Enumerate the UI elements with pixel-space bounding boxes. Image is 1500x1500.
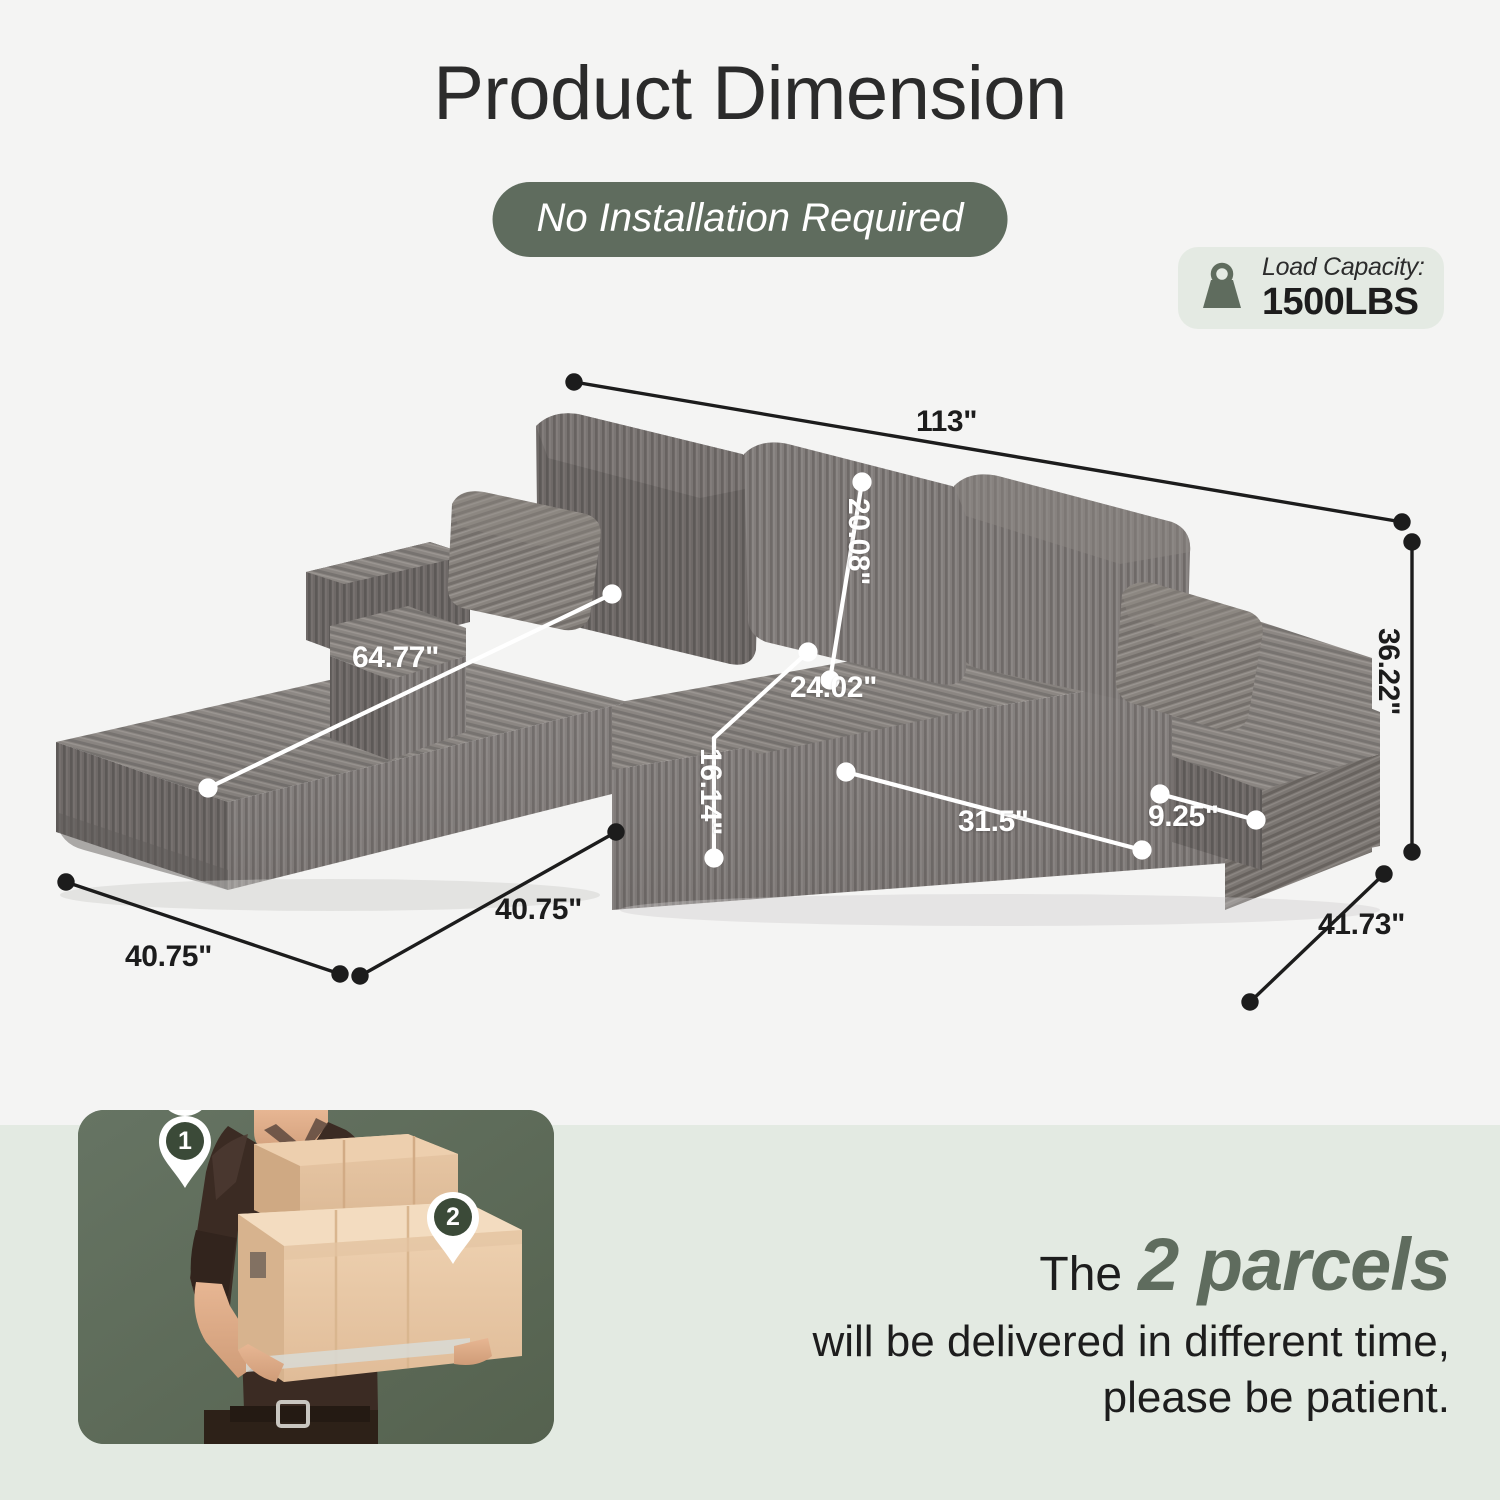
dimension-label-overall-width: 113" (916, 405, 977, 439)
parcel-detail-line-1: will be delivered in different time, (620, 1314, 1450, 1370)
parcel-headline: The2 parcels (620, 1228, 1450, 1302)
parcel-the-word: The (1039, 1248, 1122, 1301)
dimension-label-overall-height: 36.22" (1371, 628, 1405, 715)
load-capacity-label: Load Capacity: (1262, 255, 1425, 280)
svg-text:2: 2 (446, 1203, 460, 1231)
page-title: Product Dimension (0, 52, 1500, 136)
delivery-photo-card: 1 2 (78, 1110, 554, 1444)
dimension-label-backrest-height: 20.08" (841, 498, 875, 585)
dimension-label-seat-width: 31.5" (958, 805, 1029, 839)
parcel-detail-line-2: please be patient. (620, 1370, 1450, 1426)
load-capacity-text: Load Capacity: 1500LBS (1262, 255, 1425, 321)
parcel-count-highlight: 2 parcels (1138, 1223, 1450, 1306)
load-capacity-badge: Load Capacity: 1500LBS (1178, 247, 1444, 329)
dimension-label-seat-height: 16.14" (693, 748, 727, 835)
dimension-label-chaise-width: 40.75" (125, 940, 212, 974)
dimension-label-armrest-width: 9.25" (1148, 800, 1219, 834)
dimension-label-chaise-length: 64.77" (352, 641, 439, 675)
dimension-label-seat-depth: 24.02" (790, 671, 877, 705)
dimension-label-overall-depth: 41.73" (1318, 908, 1405, 942)
sofa-dimension-illustration (0, 350, 1500, 1070)
load-capacity-value: 1500LBS (1262, 283, 1425, 321)
svg-text:1: 1 (178, 1127, 192, 1155)
dimension-label-chaise-depth: 40.75" (495, 893, 582, 927)
no-installation-badge: No Installation Required (493, 182, 1008, 257)
weight-icon (1196, 262, 1248, 314)
parcel-message: The2 parcels will be delivered in differ… (620, 1228, 1450, 1427)
infographic-canvas: Product Dimension No Installation Requir… (0, 0, 1500, 1500)
